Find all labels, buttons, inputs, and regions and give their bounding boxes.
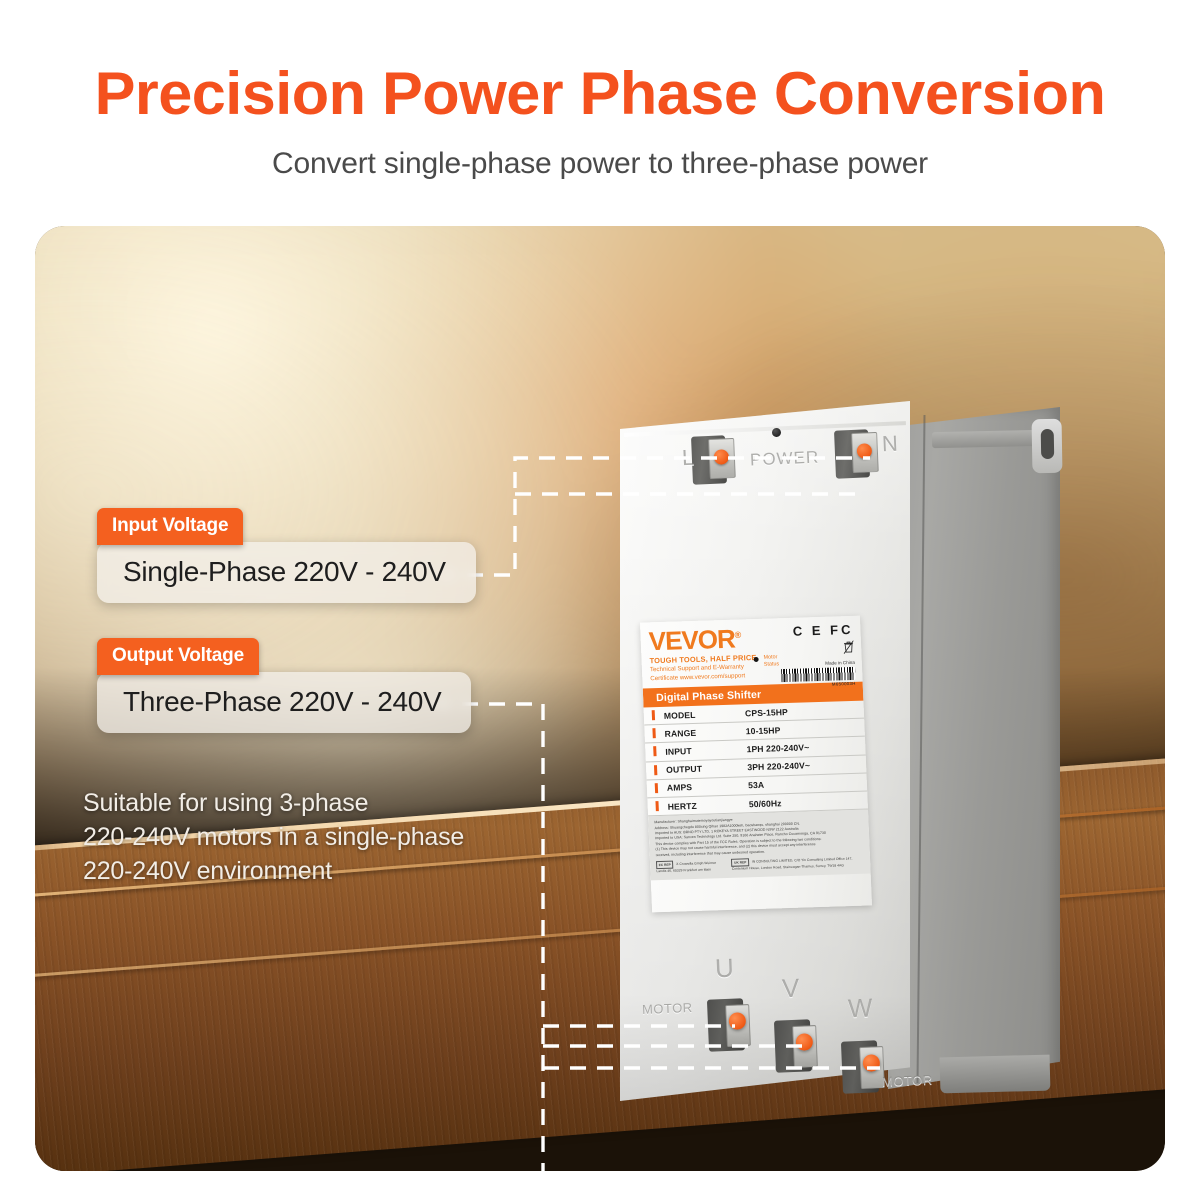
device-side-panel	[888, 407, 1060, 1089]
fineprint-rep-row: EC REP X Crowsilla Gmph Weimar Landis 46…	[656, 855, 864, 874]
suitability-note: Suitable for using 3-phase 220-240V moto…	[83, 786, 464, 888]
terminal-block-v	[774, 1019, 812, 1072]
terminal-label-u: U	[714, 953, 734, 985]
callout-value-output: Three-Phase 220V - 240V	[97, 672, 471, 733]
label-header: VEVOR® TOUGH TOOLS, HALF PRICE Technical…	[640, 616, 863, 689]
terminal-label-power: POWER	[750, 448, 820, 471]
callout-output-voltage: Output Voltage Three-Phase 220V - 240V	[97, 638, 471, 733]
suitability-note-line-2: 220-240V motors in a single-phase	[83, 820, 464, 854]
terminal-block-line	[691, 435, 727, 484]
terminal-block-neutral	[834, 429, 870, 478]
vevor-logo: VEVOR®	[648, 625, 741, 654]
terminal-label-motor-left: MOTOR	[642, 1000, 693, 1017]
product-spec-label: VEVOR® TOUGH TOOLS, HALF PRICE Technical…	[640, 616, 872, 913]
made-in-text: Made in China	[781, 660, 855, 667]
page-subtitle: Convert single-phase power to three-phas…	[0, 147, 1200, 181]
suitability-note-line-1: Suitable for using 3-phase	[83, 786, 464, 820]
page-title: Precision Power Phase Conversion	[0, 62, 1200, 125]
product-photo: L POWER N U V W MOTOR MOTOR VEVOR® TOUGH…	[35, 226, 1165, 1171]
terminal-label-v: V	[781, 973, 800, 1005]
callout-value-input: Single-Phase 220V - 240V	[97, 542, 476, 603]
spec-table: MODEL CPS-15HP RANGE 10-15HP INPUT 1PH 2…	[644, 701, 868, 817]
device-hanger-slot	[1032, 419, 1063, 474]
ec-rep-block: EC REP X Crowsilla Gmph Weimar Landis 46…	[656, 859, 722, 874]
weee-bin-icon	[843, 640, 855, 656]
terminal-block-u	[707, 998, 745, 1051]
spec-key: HERTZ	[647, 795, 749, 816]
spec-table-body: MODEL CPS-15HP RANGE 10-15HP INPUT 1PH 2…	[644, 701, 868, 816]
terminal-label-n: N	[881, 431, 898, 458]
motor-status-label: MotorStatus	[763, 654, 779, 668]
uk-rep-block: UK REP IN CONSULTING LIMITED, C/O Yin Co…	[731, 855, 864, 872]
motor-status-dot	[754, 657, 759, 662]
terminal-block-w	[841, 1040, 879, 1093]
ce-fc-mark: C E FC	[779, 622, 854, 639]
uk-rep-address: IN CONSULTING LIMITED, C/O Yin Consultin…	[732, 857, 853, 871]
terminal-label-motor-right: MOTOR	[882, 1072, 933, 1089]
device-foot	[940, 1055, 1051, 1094]
callout-badge-output: Output Voltage	[97, 638, 259, 675]
callout-badge-input: Input Voltage	[97, 508, 243, 545]
page-header: Precision Power Phase Conversion Convert…	[0, 0, 1200, 181]
suitability-note-line-3: 220-240V environment	[83, 854, 464, 888]
terminal-label-l: L	[681, 445, 694, 471]
certification-marks: C E FC Made in China M650003H	[779, 622, 856, 688]
device-side-groove	[932, 430, 1042, 448]
terminal-label-w: W	[847, 992, 873, 1024]
phase-converter-device: L POWER N U V W MOTOR MOTOR VEVOR® TOUGH…	[620, 401, 1090, 1101]
weee-bin-svg	[843, 640, 855, 654]
label-fineprint: Manufacturer: Shanghaimutemoyayoutianjia…	[648, 810, 871, 881]
callout-input-voltage: Input Voltage Single-Phase 220V - 240V	[97, 508, 476, 603]
